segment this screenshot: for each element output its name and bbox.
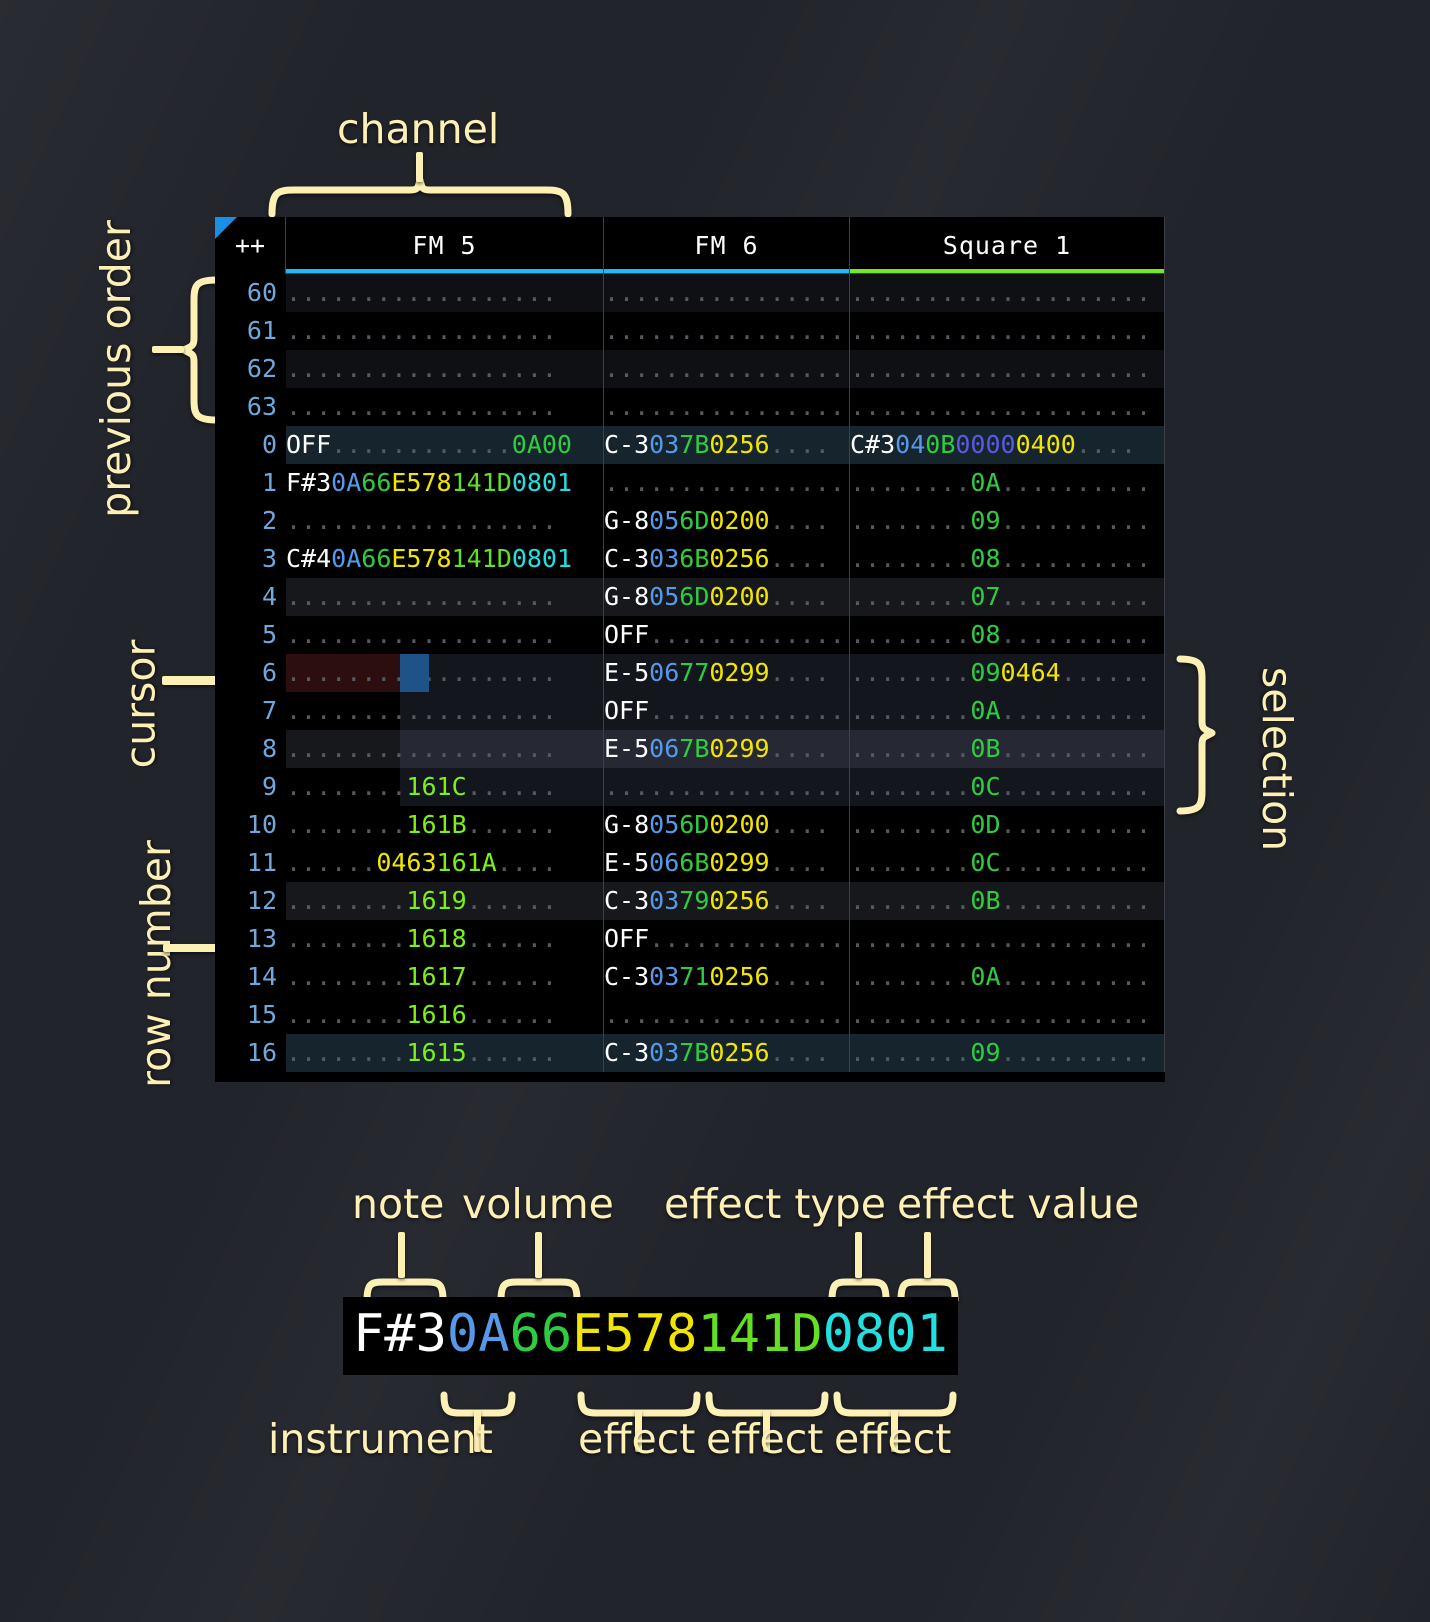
pattern-corner-marker[interactable]: ++ xyxy=(215,217,286,274)
row-number-cell: 1 xyxy=(215,464,286,502)
pattern-cell[interactable]: C-3036B0256.... xyxy=(604,540,850,578)
row-cells: ..................E-5067B0299...........… xyxy=(286,730,1165,768)
cell-segment-dot: .................. xyxy=(286,730,557,768)
cell-segment-dot: .......... xyxy=(1001,1034,1152,1072)
cell-segment-note: C-3 xyxy=(604,882,649,920)
cell-segment-dot: .......... xyxy=(1001,464,1152,502)
cell-segment-dot: ................ xyxy=(649,920,850,958)
cell-segment-dot: ...... xyxy=(467,1034,557,1072)
row-number-cell: 16 xyxy=(215,1034,286,1072)
cell-segment-fx1: E578 xyxy=(391,540,451,578)
row-number-cell: 4 xyxy=(215,578,286,616)
cell-segment-dot: .................... xyxy=(850,312,1151,350)
pattern-cell[interactable]: ........1618...... xyxy=(286,920,604,958)
cell-segment-ins: 03 xyxy=(649,1034,679,1072)
table-row[interactable]: 5..................OFF..................… xyxy=(215,616,1165,654)
cell-segment-grn2: 1617 xyxy=(406,958,466,996)
cell-segment-grn: 0D xyxy=(970,806,1000,844)
cell-segment-dot: ........ xyxy=(850,768,970,806)
pattern-cell[interactable]: .................... xyxy=(604,996,850,1034)
cell-segment-note: OFF xyxy=(604,920,649,958)
cell-segment-yel: 0464 xyxy=(1001,654,1061,692)
cell-segment-fx1: 0299 xyxy=(709,844,769,882)
legend-segment-fx3: 0801 xyxy=(823,1304,948,1364)
legend-segment-note: F#3 xyxy=(353,1304,447,1364)
cell-segment-dot: ........ xyxy=(850,806,970,844)
cell-segment-dot: ...... xyxy=(286,844,376,882)
leader-previous-order xyxy=(152,346,184,353)
pattern-cell[interactable]: .................. xyxy=(286,692,604,730)
pattern-cell[interactable]: E-506770299.... xyxy=(604,654,850,692)
cell-segment-dot: ...... xyxy=(467,996,557,1034)
cell-segment-grn: 09 xyxy=(970,654,1000,692)
row-cells: ........................................… xyxy=(286,350,1165,388)
cell-segment-grn: 07 xyxy=(970,578,1000,616)
cell-segment-dot: ........ xyxy=(286,882,406,920)
pattern-cell[interactable]: ........1619...... xyxy=(286,882,604,920)
cell-segment-vol: 0A00 xyxy=(512,426,572,464)
table-row[interactable]: 13........1618......OFF.................… xyxy=(215,920,1165,958)
pattern-cell[interactable]: ........161C...... xyxy=(286,768,604,806)
annotation-volume: volume xyxy=(462,1180,614,1228)
corner-triangle-icon xyxy=(215,217,237,239)
table-row[interactable]: 63......................................… xyxy=(215,388,1165,426)
cell-segment-grn: 09 xyxy=(970,502,1000,540)
cell-segment-dot: ............ xyxy=(331,426,512,464)
cell-segment-note: C-3 xyxy=(604,426,649,464)
pattern-editor[interactable]: ++ FM 5 FM 6 Square 1 60................… xyxy=(215,217,1165,1082)
row-cells: ........1618......OFF...................… xyxy=(286,920,1165,958)
row-cells: ..................OFF...................… xyxy=(286,692,1165,730)
cell-segment-dot: ................ xyxy=(649,616,850,654)
cell-segment-grn2: 1615 xyxy=(406,1034,466,1072)
cell-segment-dot: .................. xyxy=(286,578,557,616)
pattern-cell[interactable]: .................... xyxy=(604,274,850,312)
cell-segment-ins: 05 xyxy=(649,502,679,540)
cell-segment-dot: ...... xyxy=(467,768,557,806)
leader-effect-type xyxy=(855,1232,862,1278)
cell-segment-dot: .................... xyxy=(850,274,1151,312)
pattern-cell[interactable]: .................. xyxy=(286,578,604,616)
cell-segment-grn: 08 xyxy=(970,616,1000,654)
pattern-cell[interactable]: .................. xyxy=(286,654,604,692)
annotation-cursor: cursor xyxy=(116,640,164,769)
cell-segment-grn2: 161B xyxy=(406,806,466,844)
cell-segment-vol: 6D xyxy=(679,502,709,540)
cell-segment-grn2: 161A xyxy=(437,844,497,882)
cell-segment-note: C#3 xyxy=(850,426,895,464)
cell-segment-note: E-5 xyxy=(604,730,649,768)
cell-segment-dot: ........ xyxy=(286,806,406,844)
legend-segment-fx1: E578 xyxy=(572,1304,697,1364)
cell-segment-dot: ........ xyxy=(286,1034,406,1072)
cell-segment-note: C-3 xyxy=(604,540,649,578)
cell-segment-dot: .................... xyxy=(850,388,1151,426)
cell-segment-dot: ........ xyxy=(850,1034,970,1072)
cell-segment-dot: .... xyxy=(770,806,830,844)
pattern-cell[interactable]: C-3037B0256.... xyxy=(604,1034,850,1072)
annotation-effect-2: effect xyxy=(706,1415,823,1463)
cell-segment-dot: .................. xyxy=(286,502,557,540)
cell-segment-grn2: 1618 xyxy=(406,920,466,958)
row-cells: ........................................… xyxy=(286,274,1165,312)
cell-segment-fx2: D xyxy=(497,540,512,578)
cell-segment-note: OFF xyxy=(604,692,649,730)
pattern-cell[interactable]: .................. xyxy=(286,388,604,426)
pattern-cell[interactable]: .................. xyxy=(286,730,604,768)
cell-segment-grn: 0C xyxy=(970,768,1000,806)
cell-segment-dot: .................. xyxy=(286,616,557,654)
cell-segment-note: OFF xyxy=(604,616,649,654)
leader-row-number xyxy=(163,944,223,952)
pattern-cell[interactable]: ......0463161A.... xyxy=(286,844,604,882)
table-row[interactable]: 7..................OFF..................… xyxy=(215,692,1165,730)
pattern-cell[interactable]: OFF............0A00 xyxy=(286,426,604,464)
pattern-cell[interactable]: ........1617...... xyxy=(286,958,604,996)
table-row[interactable]: 14........1617......C-303710256.........… xyxy=(215,958,1165,996)
table-row[interactable]: 1F#30A66E578141D0801....................… xyxy=(215,464,1165,502)
row-cells: ........................................… xyxy=(286,312,1165,350)
cell-segment-fx1: 0256 xyxy=(709,958,769,996)
cell-segment-fx1: 0200 xyxy=(709,806,769,844)
pattern-cell[interactable]: E-5067B0299.... xyxy=(604,730,850,768)
row-number-cell: 0 xyxy=(215,426,286,464)
pattern-cell[interactable]: C-303790256.... xyxy=(604,882,850,920)
cell-segment-dot: .... xyxy=(770,844,830,882)
brace-selection xyxy=(1178,655,1214,815)
cell-segment-vol: 7B xyxy=(679,1034,709,1072)
cell-segment-ins: 04 xyxy=(895,426,925,464)
leader-channel xyxy=(416,152,423,182)
pattern-cell[interactable]: .................... xyxy=(850,388,1165,426)
pattern-cell[interactable]: .................... xyxy=(850,312,1165,350)
pattern-rows[interactable]: 60......................................… xyxy=(215,274,1165,1072)
row-number-cell: 6 xyxy=(215,654,286,692)
pattern-cell[interactable]: G-8056D0200.... xyxy=(604,578,850,616)
cell-segment-note: G-8 xyxy=(604,806,649,844)
cell-segment-note: F#3 xyxy=(286,464,331,502)
cell-segment-grn: 0C xyxy=(970,844,1000,882)
pattern-cell[interactable]: .................... xyxy=(850,920,1165,958)
pattern-cell[interactable]: ........08.......... xyxy=(850,540,1165,578)
cell-segment-dot: .................... xyxy=(604,388,850,426)
pattern-cell[interactable]: C#40A66E578141D0801 xyxy=(286,540,604,578)
table-row[interactable]: 12........1619......C-303790256.........… xyxy=(215,882,1165,920)
pattern-cell[interactable]: .................... xyxy=(604,768,850,806)
row-cells: ........1615......C-3037B0256...........… xyxy=(286,1034,1165,1072)
pattern-cell[interactable]: .................. xyxy=(286,312,604,350)
cell-segment-fx1: 0299 xyxy=(709,730,769,768)
pattern-cell[interactable]: ........09.......... xyxy=(850,1034,1165,1072)
pattern-cell[interactable]: ........161B...... xyxy=(286,806,604,844)
cell-segment-fx2: 141 xyxy=(452,464,497,502)
cell-segment-grn: 0B xyxy=(970,730,1000,768)
cell-segment-fx3: 0801 xyxy=(512,464,572,502)
pattern-cell[interactable]: .................. xyxy=(286,502,604,540)
cell-segment-note: G-8 xyxy=(604,502,649,540)
cell-segment-grn: 08 xyxy=(970,540,1000,578)
table-row[interactable]: 11......0463161A....E-5066B0299.........… xyxy=(215,844,1165,882)
pattern-cell[interactable]: ........0B.......... xyxy=(850,882,1165,920)
annotation-effect-type: effect type xyxy=(664,1180,886,1228)
pattern-cell[interactable]: ........07.......... xyxy=(850,578,1165,616)
cell-segment-fx1: 0256 xyxy=(709,1034,769,1072)
cell-segment-ins: 03 xyxy=(649,426,679,464)
row-cells: ..................G-8056D0200...........… xyxy=(286,502,1165,540)
pattern-cell[interactable]: .................... xyxy=(850,996,1165,1034)
cell-segment-vol: 7B xyxy=(679,426,709,464)
pattern-cell[interactable]: .................... xyxy=(604,350,850,388)
cell-segment-ins: 0A xyxy=(331,464,361,502)
row-cells: ........1616............................… xyxy=(286,996,1165,1034)
annotation-effect-value: effect value xyxy=(897,1180,1139,1228)
pattern-cell[interactable]: OFF................ xyxy=(604,692,850,730)
row-number-cell: 11 xyxy=(215,844,286,882)
cell-segment-dot: .... xyxy=(770,540,830,578)
pattern-cell[interactable]: ........0A.......... xyxy=(850,692,1165,730)
row-cells: ........1617......C-303710256...........… xyxy=(286,958,1165,996)
cell-segment-dot: .......... xyxy=(1001,958,1152,996)
annotation-effect-1: effect xyxy=(578,1415,695,1463)
pattern-cell[interactable]: OFF................ xyxy=(604,920,850,958)
cell-segment-dot: .......... xyxy=(1001,882,1152,920)
pattern-cell[interactable]: ........0A.......... xyxy=(850,464,1165,502)
pattern-cell[interactable]: .................... xyxy=(604,312,850,350)
cell-segment-ins: 05 xyxy=(649,578,679,616)
row-number-cell: 9 xyxy=(215,768,286,806)
page-root: { "annotations": { "channel": "channel",… xyxy=(0,0,1430,1622)
cell-segment-vol: 66 xyxy=(361,464,391,502)
cell-segment-vol: 66 xyxy=(361,540,391,578)
pattern-cell[interactable]: C-303710256.... xyxy=(604,958,850,996)
cell-segment-grn: 0A xyxy=(970,958,1000,996)
row-number-cell: 10 xyxy=(215,806,286,844)
cell-segment-dot: ........ xyxy=(850,654,970,692)
pattern-cell[interactable]: .................... xyxy=(604,388,850,426)
cell-segment-dot: .................. xyxy=(286,388,557,426)
cell-segment-dot: .................... xyxy=(604,312,850,350)
cell-segment-vol: 0B xyxy=(925,426,955,464)
legend-segment-fx2: 141 xyxy=(697,1304,791,1364)
table-row[interactable]: 60......................................… xyxy=(215,274,1165,312)
cell-segment-dot: ........ xyxy=(850,464,970,502)
row-cells: ..................E-506770299...........… xyxy=(286,654,1165,692)
pattern-cell[interactable]: ........1615...... xyxy=(286,1034,604,1072)
table-row[interactable]: 3C#40A66E578141D0801C-3036B0256.........… xyxy=(215,540,1165,578)
cell-segment-dot: .......... xyxy=(1001,578,1152,616)
cell-segment-dot: .................... xyxy=(604,274,850,312)
cell-segment-dot: .......... xyxy=(1001,502,1152,540)
pattern-cell[interactable]: ........090464...... xyxy=(850,654,1165,692)
cell-segment-vol: 71 xyxy=(679,958,709,996)
row-number-cell: 3 xyxy=(215,540,286,578)
row-number-cell: 13 xyxy=(215,920,286,958)
cell-segment-dot: .................... xyxy=(850,920,1151,958)
table-row[interactable]: 6..................E-506770299..........… xyxy=(215,654,1165,692)
cell-segment-dot: ........ xyxy=(850,844,970,882)
corner-label: ++ xyxy=(235,227,265,265)
legend-segment-ins: 0A xyxy=(447,1304,510,1364)
cell-segment-dot: ...... xyxy=(467,958,557,996)
cell-segment-dot: .......... xyxy=(1001,692,1152,730)
table-row[interactable]: 10........161B......G-8056D0200.........… xyxy=(215,806,1165,844)
cell-segment-ins: 03 xyxy=(649,882,679,920)
cell-segment-dot: .... xyxy=(770,654,830,692)
cell-segment-note: C-3 xyxy=(604,958,649,996)
row-cells: F#30A66E578141D0801.....................… xyxy=(286,464,1165,502)
cell-segment-dot: .................. xyxy=(286,350,557,388)
cell-segment-grn2: 1616 xyxy=(406,996,466,1034)
channel-header-square1[interactable]: Square 1 xyxy=(850,217,1165,274)
table-row[interactable]: 2..................G-8056D0200..........… xyxy=(215,502,1165,540)
cell-segment-vol: 7B xyxy=(679,730,709,768)
channel-header-fm6[interactable]: FM 6 xyxy=(604,217,850,274)
cell-segment-dot: .................... xyxy=(850,996,1151,1034)
cell-segment-dot: ........ xyxy=(850,578,970,616)
cell-segment-dot: ...... xyxy=(467,920,557,958)
pattern-cell[interactable]: F#30A66E578141D0801 xyxy=(286,464,604,502)
row-cells: ........1619......C-303790256...........… xyxy=(286,882,1165,920)
cell-segment-grn2: 1619 xyxy=(406,882,466,920)
cell-segment-fx1: 0200 xyxy=(709,502,769,540)
cell-segment-dot: .................. xyxy=(286,312,557,350)
pattern-cell[interactable]: ........0D.......... xyxy=(850,806,1165,844)
pattern-cell[interactable]: C#3040B00000400.... xyxy=(850,426,1165,464)
pattern-cell[interactable]: .................... xyxy=(850,350,1165,388)
brace-previous-order xyxy=(182,276,218,424)
cell-segment-dot: ........ xyxy=(850,616,970,654)
cell-segment-dot: ................ xyxy=(649,692,850,730)
channel-name: FM 5 xyxy=(412,227,476,265)
cell-segment-note: C-3 xyxy=(604,1034,649,1072)
cell-segment-grn: 0A xyxy=(970,692,1000,730)
cell-segment-grn: 0A xyxy=(970,464,1000,502)
cell-segment-fx1: 0299 xyxy=(709,654,769,692)
cell-segment-dot: ........ xyxy=(850,882,970,920)
row-cells: ......0463161A....E-5066B0299...........… xyxy=(286,844,1165,882)
cell-segment-dot: ...... xyxy=(1061,654,1151,692)
cell-segment-dot: .......... xyxy=(1001,768,1152,806)
table-row[interactable]: 15........1616..........................… xyxy=(215,996,1165,1034)
cell-segment-dot: .................. xyxy=(286,274,557,312)
table-row[interactable]: 8..................E-5067B0299..........… xyxy=(215,730,1165,768)
table-row[interactable]: 62......................................… xyxy=(215,350,1165,388)
row-number-cell: 15 xyxy=(215,996,286,1034)
cell-segment-grn: 09 xyxy=(970,1034,1000,1072)
cell-segment-dot: ........ xyxy=(850,730,970,768)
cell-segment-dot: ........ xyxy=(850,958,970,996)
cell-segment-dot: .................... xyxy=(604,464,850,502)
cell-segment-ins: 06 xyxy=(649,844,679,882)
cell-segment-fx3: 0801 xyxy=(512,540,572,578)
table-row[interactable]: 0OFF............0A00C-3037B0256....C#304… xyxy=(215,426,1165,464)
cell-segment-dot: .................... xyxy=(850,350,1151,388)
cell-segment-fx1: 0256 xyxy=(709,540,769,578)
pattern-cell[interactable]: E-5066B0299.... xyxy=(604,844,850,882)
row-number-cell: 7 xyxy=(215,692,286,730)
cell-segment-ins: 03 xyxy=(649,540,679,578)
cell-segment-yel: 0463 xyxy=(376,844,436,882)
row-cells: C#40A66E578141D0801C-3036B0256..........… xyxy=(286,540,1165,578)
cell-segment-dot: ........ xyxy=(286,996,406,1034)
pattern-cell[interactable]: .................. xyxy=(286,274,604,312)
pattern-cell[interactable]: ........0B.......... xyxy=(850,730,1165,768)
pattern-cell[interactable]: .................... xyxy=(850,274,1165,312)
cell-segment-dot: ...... xyxy=(467,882,557,920)
pattern-cell[interactable]: G-8056D0200.... xyxy=(604,806,850,844)
table-row[interactable]: 16........1615......C-3037B0256.........… xyxy=(215,1034,1165,1072)
pattern-cell[interactable]: G-8056D0200.... xyxy=(604,502,850,540)
cell-segment-dot: .... xyxy=(770,502,830,540)
pattern-cell[interactable]: ........09.......... xyxy=(850,502,1165,540)
cell-segment-dot: .................... xyxy=(604,768,850,806)
pattern-cell[interactable]: ........0C.......... xyxy=(850,768,1165,806)
cell-segment-vol: 77 xyxy=(679,654,709,692)
cell-segment-dot: ........ xyxy=(286,920,406,958)
pattern-cell[interactable]: ........0C.......... xyxy=(850,844,1165,882)
cell-segment-dot: ........ xyxy=(850,502,970,540)
cell-segment-fx1: 0256 xyxy=(709,882,769,920)
pattern-cell[interactable]: ........0A.......... xyxy=(850,958,1165,996)
cell-segment-fx1: 0256 xyxy=(709,426,769,464)
row-number-cell: 61 xyxy=(215,312,286,350)
cell-segment-dot: .... xyxy=(770,1034,830,1072)
annotation-previous-order: previous order xyxy=(92,220,140,518)
cell-segment-ins: 0A xyxy=(331,540,361,578)
annotation-selection: selection xyxy=(1253,667,1301,851)
cell-segment-vol: 6D xyxy=(679,578,709,616)
pattern-cell[interactable]: .................. xyxy=(286,616,604,654)
row-number-cell: 8 xyxy=(215,730,286,768)
pattern-cell[interactable]: ........08.......... xyxy=(850,616,1165,654)
cell-segment-grn2: 161C xyxy=(406,768,466,806)
row-number-cell: 60 xyxy=(215,274,286,312)
cell-segment-fx2: 141 xyxy=(452,540,497,578)
cell-segment-ins: 06 xyxy=(649,730,679,768)
annotation-note: note xyxy=(352,1180,444,1228)
table-row[interactable]: 4..................G-8056D0200..........… xyxy=(215,578,1165,616)
pattern-cell[interactable]: OFF................ xyxy=(604,616,850,654)
cell-segment-dot: .... xyxy=(770,426,830,464)
row-number-cell: 14 xyxy=(215,958,286,996)
row-number-cell: 62 xyxy=(215,350,286,388)
brace-channel xyxy=(268,178,572,214)
annotation-channel: channel xyxy=(337,105,499,153)
pattern-cell[interactable]: ........1616...... xyxy=(286,996,604,1034)
channel-header-fm5[interactable]: FM 5 xyxy=(286,217,604,274)
row-number-cell: 2 xyxy=(215,502,286,540)
cell-segment-dot: .................... xyxy=(604,350,850,388)
legend-segment-vol: 66 xyxy=(510,1304,573,1364)
table-row[interactable]: 9........161C...........................… xyxy=(215,768,1165,806)
cell-segment-dot: ........ xyxy=(850,692,970,730)
pattern-cell[interactable]: C-3037B0256.... xyxy=(604,426,850,464)
row-number-cell: 63 xyxy=(215,388,286,426)
cell-segment-ins: 05 xyxy=(649,806,679,844)
pattern-cell[interactable]: .................... xyxy=(604,464,850,502)
cell-segment-dot: ...... xyxy=(467,806,557,844)
cell-segment-dot: ........ xyxy=(286,958,406,996)
leader-volume xyxy=(535,1232,542,1278)
cell-segment-vol: 6D xyxy=(679,806,709,844)
channel-name: FM 6 xyxy=(694,227,758,265)
annotation-row-number: row number xyxy=(132,840,180,1088)
pattern-cell[interactable]: .................. xyxy=(286,350,604,388)
table-row[interactable]: 61......................................… xyxy=(215,312,1165,350)
cell-segment-dot: .... xyxy=(770,730,830,768)
pattern-header-row: ++ FM 5 FM 6 Square 1 xyxy=(215,217,1165,274)
cell-segment-vol: 6B xyxy=(679,844,709,882)
